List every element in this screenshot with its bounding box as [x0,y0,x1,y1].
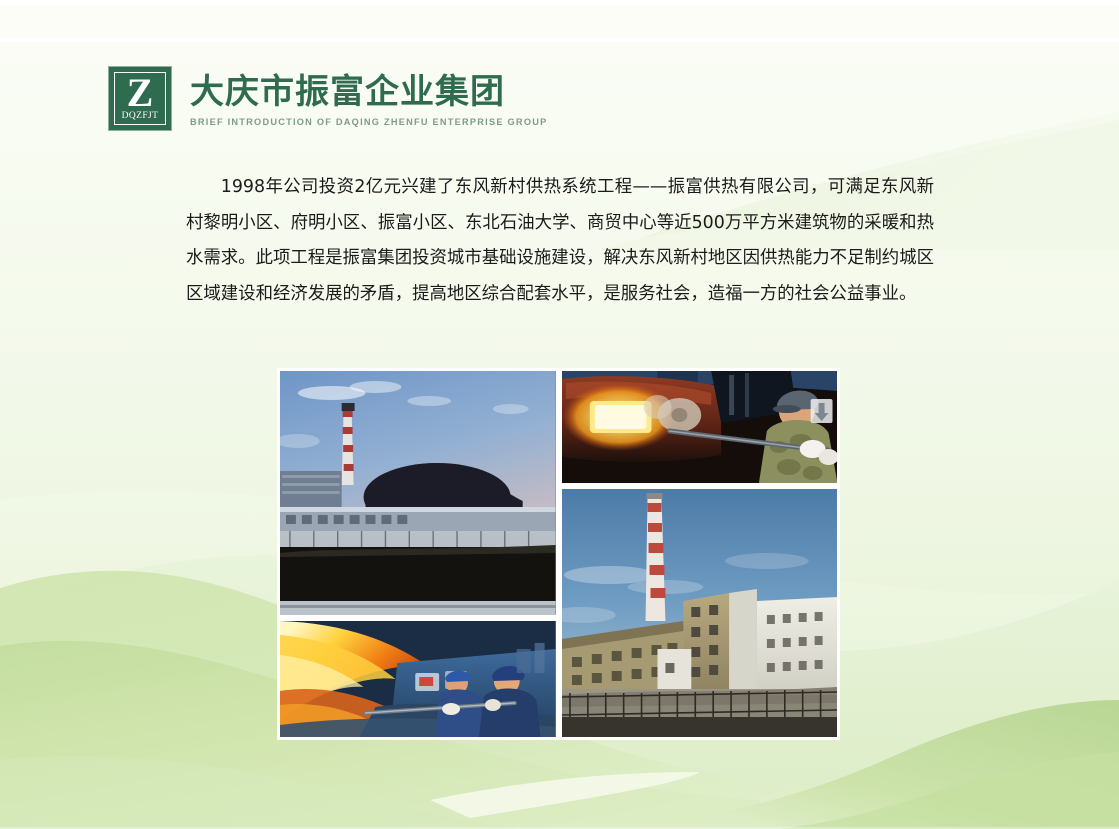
body-text-block: 1998年公司投资2亿元兴建了东风新村供热系统工程——振富供热有限公司，可满足东… [186,170,934,312]
company-header: Z DQZFJT 大庆市振富企业集团 BRIEF INTRODUCTION OF… [108,66,547,131]
logo-inner-frame: Z DQZFJT [114,72,166,125]
slide-page: Z DQZFJT 大庆市振富企业集团 BRIEF INTRODUCTION OF… [0,0,1119,829]
logo-abbreviation: DQZFJT [122,111,159,122]
logo-letter-z: Z [127,74,154,112]
body-paragraph: 1998年公司投资2亿元兴建了东风新村供热系统工程——振富供热有限公司，可满足东… [186,170,934,312]
title-block: 大庆市振富企业集团 BRIEF INTRODUCTION OF DAQING Z… [190,66,547,128]
photo-worker-at-furnace [562,371,838,483]
company-name-chinese: 大庆市振富企业集团 [190,72,547,112]
company-name-english: BRIEF INTRODUCTION OF DAQING ZHENFU ENTE… [190,116,547,128]
photo-collage [277,368,840,740]
company-logo-mark: Z DQZFJT [108,66,172,131]
top-tint-band [0,5,1119,38]
photo-heating-station-building [562,489,838,737]
photo-power-plant-exterior [280,371,556,615]
photo-workers-stoking [280,621,556,737]
collage-left-column [280,371,556,737]
collage-right-column [562,371,838,737]
top-white-band-2 [0,38,1119,42]
